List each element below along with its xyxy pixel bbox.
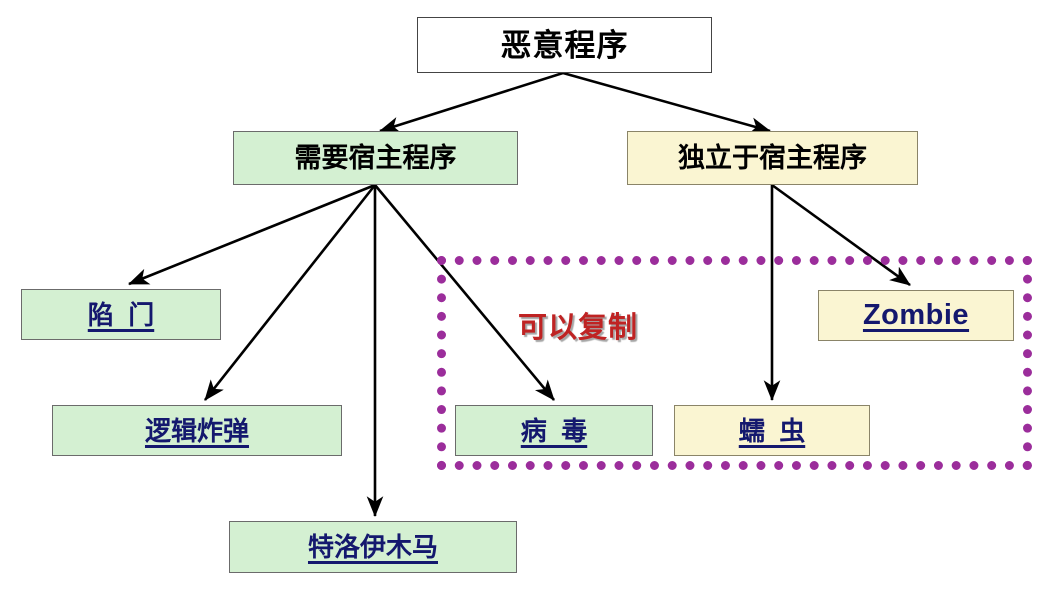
node-label: 恶意程序 <box>501 30 629 61</box>
edge-root-to-independent-host <box>563 73 770 131</box>
node-label: Zombie <box>863 301 969 330</box>
node-malicious-program[interactable]: 恶意程序 <box>417 17 712 73</box>
node-label: 独立于宿主程序 <box>678 145 867 172</box>
edge-needs-host-to-trapdoor <box>129 185 375 284</box>
edge-needs-host-to-logic-bomb <box>205 185 375 400</box>
node-label: 逻辑炸弹 <box>145 418 249 444</box>
diagram-canvas: 恶意程序 需要宿主程序 独立于宿主程序 陷 门 逻辑炸弹 特洛伊木马 病 毒 蠕… <box>0 0 1062 608</box>
node-virus[interactable]: 病 毒 <box>455 405 653 456</box>
node-label: 陷 门 <box>88 302 154 328</box>
node-worm[interactable]: 蠕 虫 <box>674 405 870 456</box>
node-trapdoor[interactable]: 陷 门 <box>21 289 221 340</box>
node-label: 需要宿主程序 <box>295 145 457 172</box>
node-logic-bomb[interactable]: 逻辑炸弹 <box>52 405 342 456</box>
node-independent-of-host[interactable]: 独立于宿主程序 <box>627 131 918 185</box>
node-label: 病 毒 <box>521 418 587 444</box>
node-zombie[interactable]: Zombie <box>818 290 1014 341</box>
node-label: 特洛伊木马 <box>308 534 438 560</box>
can-replicate-label: 可以复制 <box>518 304 638 346</box>
node-needs-host[interactable]: 需要宿主程序 <box>233 131 518 185</box>
node-trojan-horse[interactable]: 特洛伊木马 <box>229 521 517 573</box>
edge-root-to-needs-host <box>380 73 563 131</box>
node-label: 蠕 虫 <box>739 418 805 444</box>
